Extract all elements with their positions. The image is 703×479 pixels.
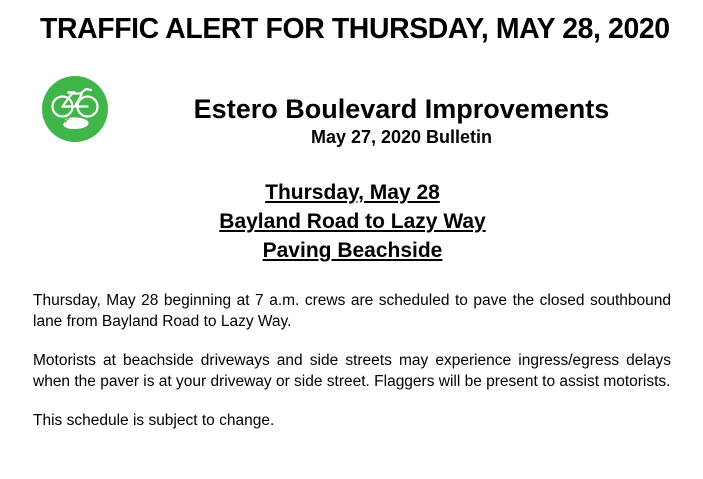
schedule-heading-line-2-text: Bayland Road to Lazy Way [219, 210, 485, 233]
project-title: Estero Boulevard Improvements [120, 93, 683, 125]
schedule-heading-line-3: Paving Beachside [40, 236, 665, 265]
body-paragraph-2: Motorists at beachside driveways and sid… [33, 350, 671, 392]
bicycle-and-footprint-icon [42, 76, 108, 142]
schedule-heading-block: Thursday, May 28 Bayland Road to Lazy Wa… [40, 178, 665, 265]
bulletin-page: TRAFFIC ALERT FOR THURSDAY, MAY 28, 2020… [0, 0, 703, 479]
project-heading-block: Estero Boulevard Improvements May 27, 20… [120, 93, 683, 149]
schedule-heading-line-1-text: Thursday, May 28 [265, 181, 440, 204]
project-logo [42, 76, 108, 142]
body-copy: Thursday, May 28 beginning at 7 a.m. cre… [33, 290, 671, 431]
schedule-heading-line-2: Bayland Road to Lazy Way [40, 207, 665, 236]
project-subtitle: May 27, 2020 Bulletin [120, 126, 683, 149]
schedule-heading-line-1: Thursday, May 28 [40, 178, 665, 207]
body-paragraph-3: This schedule is subject to change. [33, 410, 671, 431]
alert-title: TRAFFIC ALERT FOR THURSDAY, MAY 28, 2020 [40, 12, 653, 46]
schedule-heading-line-3-text: Paving Beachside [263, 239, 443, 262]
body-paragraph-1: Thursday, May 28 beginning at 7 a.m. cre… [33, 290, 671, 332]
